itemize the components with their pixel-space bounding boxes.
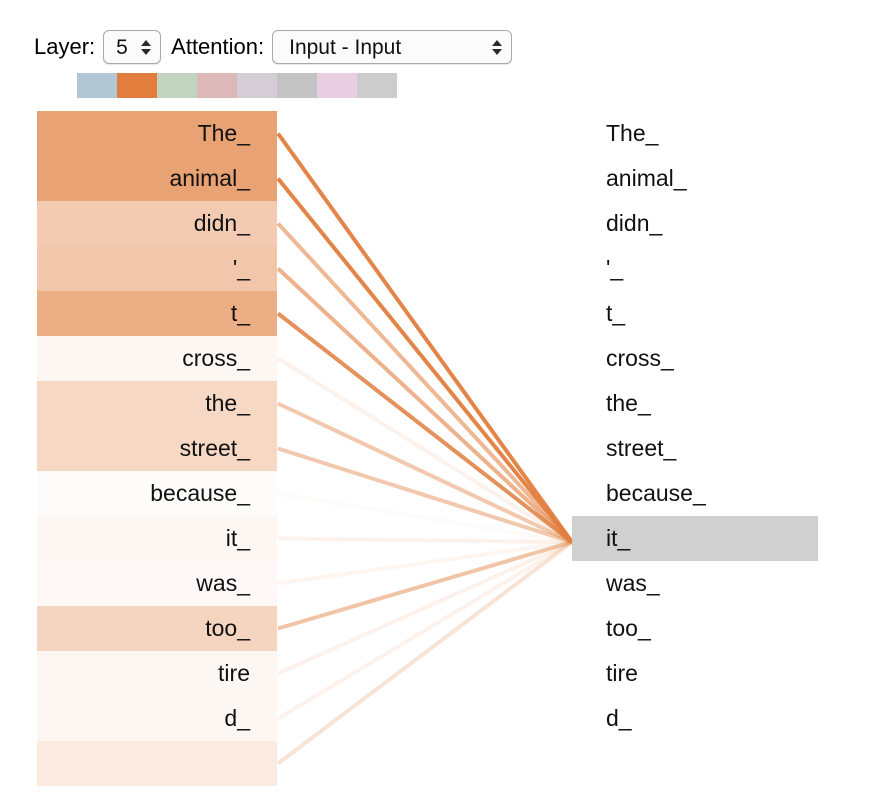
head-swatch-6[interactable] — [277, 73, 317, 98]
target-token-row[interactable]: t_ — [572, 291, 818, 336]
source-token-row[interactable]: animal_ — [37, 156, 277, 201]
source-token-row[interactable]: '_ — [37, 246, 277, 291]
source-token-row[interactable]: tire — [37, 651, 277, 696]
source-token-label: it_ — [226, 527, 250, 550]
source-token-column: The_animal_didn_'_t_cross_the_street_bec… — [37, 111, 277, 786]
target-token-row-selected[interactable]: it_ — [572, 516, 818, 561]
target-token-row[interactable]: animal_ — [572, 156, 818, 201]
head-swatch-row — [77, 73, 397, 98]
target-token-label: d_ — [606, 707, 632, 730]
target-token-row[interactable]: cross_ — [572, 336, 818, 381]
target-token-label: '_ — [606, 257, 623, 280]
source-token-label: didn_ — [194, 212, 250, 235]
source-token-row[interactable]: too_ — [37, 606, 277, 651]
attention-line — [278, 179, 572, 543]
target-token-column: The_animal_didn_'_t_cross_the_street_bec… — [572, 111, 818, 786]
source-token-label: '_ — [233, 257, 250, 280]
attention-line — [278, 539, 572, 543]
attention-line — [278, 404, 572, 543]
attention-line — [278, 359, 572, 543]
source-token-row[interactable] — [37, 741, 277, 786]
target-token-row[interactable]: the_ — [572, 381, 818, 426]
target-token-row[interactable]: d_ — [572, 696, 818, 741]
target-token-row[interactable]: The_ — [572, 111, 818, 156]
target-token-label: too_ — [606, 617, 651, 640]
source-token-label: street_ — [180, 437, 250, 460]
source-token-label: because_ — [150, 482, 250, 505]
target-token-row[interactable]: too_ — [572, 606, 818, 651]
layer-select-value: 5 — [116, 37, 128, 58]
source-token-label: too_ — [205, 617, 250, 640]
head-swatch-4[interactable] — [197, 73, 237, 98]
source-token-row[interactable]: the_ — [37, 381, 277, 426]
target-token-label: the_ — [606, 392, 651, 415]
attention-visualizer: Layer: 5 Attention: Input - Input The_an… — [0, 0, 886, 804]
attention-line — [278, 542, 572, 629]
source-token-row[interactable]: The_ — [37, 111, 277, 156]
target-token-row[interactable]: street_ — [572, 426, 818, 471]
attention-line — [278, 269, 572, 543]
source-token-row[interactable]: because_ — [37, 471, 277, 516]
attention-line — [278, 542, 572, 674]
target-token-label: because_ — [606, 482, 706, 505]
target-token-row[interactable]: was_ — [572, 561, 818, 606]
source-token-row[interactable]: didn_ — [37, 201, 277, 246]
target-token-label: The_ — [606, 122, 658, 145]
layer-label: Layer: — [34, 36, 95, 58]
source-token-label: animal_ — [169, 167, 250, 190]
toolbar: Layer: 5 Attention: Input - Input — [34, 28, 512, 66]
head-swatch-5[interactable] — [237, 73, 277, 98]
source-token-row[interactable]: t_ — [37, 291, 277, 336]
source-token-label: was_ — [196, 572, 250, 595]
attention-line — [278, 542, 572, 764]
head-swatch-3[interactable] — [157, 73, 197, 98]
attention-line — [278, 542, 572, 719]
target-token-label: cross_ — [606, 347, 674, 370]
source-token-label: cross_ — [182, 347, 250, 370]
head-swatch-1[interactable] — [77, 73, 117, 98]
source-token-row[interactable]: street_ — [37, 426, 277, 471]
attention-select[interactable]: Input - Input — [272, 30, 512, 64]
target-token-row[interactable]: didn_ — [572, 201, 818, 246]
attention-line — [278, 224, 572, 543]
target-token-label: t_ — [606, 302, 625, 325]
attention-select-value: Input - Input — [289, 37, 401, 58]
source-token-row[interactable]: it_ — [37, 516, 277, 561]
attention-line — [278, 314, 572, 543]
source-token-label: the_ — [205, 392, 250, 415]
target-token-label: was_ — [606, 572, 660, 595]
source-token-row[interactable]: cross_ — [37, 336, 277, 381]
chevron-updown-icon[interactable] — [140, 40, 152, 55]
source-token-label: t_ — [231, 302, 250, 325]
attention-line — [278, 134, 572, 543]
source-token-label: The_ — [198, 122, 250, 145]
source-token-row[interactable]: was_ — [37, 561, 277, 606]
head-swatch-2[interactable] — [117, 73, 157, 98]
head-swatch-7[interactable] — [317, 73, 357, 98]
target-token-row[interactable]: tire — [572, 651, 818, 696]
source-token-label: tire — [218, 662, 250, 685]
target-token-label: animal_ — [606, 167, 687, 190]
target-token-label: didn_ — [606, 212, 662, 235]
attention-line — [278, 494, 572, 543]
attention-line — [278, 449, 572, 543]
source-token-label: d_ — [224, 707, 250, 730]
source-token-row[interactable]: d_ — [37, 696, 277, 741]
target-token-row[interactable]: because_ — [572, 471, 818, 516]
attention-label: Attention: — [171, 36, 264, 58]
target-token-row[interactable]: '_ — [572, 246, 818, 291]
attention-line — [278, 542, 572, 584]
target-token-row[interactable] — [572, 741, 818, 786]
target-token-label: it_ — [606, 527, 630, 550]
head-swatch-8[interactable] — [357, 73, 397, 98]
target-token-label: street_ — [606, 437, 676, 460]
target-token-label: tire — [606, 662, 638, 685]
layer-select[interactable]: 5 — [103, 30, 161, 64]
chevron-updown-icon[interactable] — [491, 40, 503, 55]
